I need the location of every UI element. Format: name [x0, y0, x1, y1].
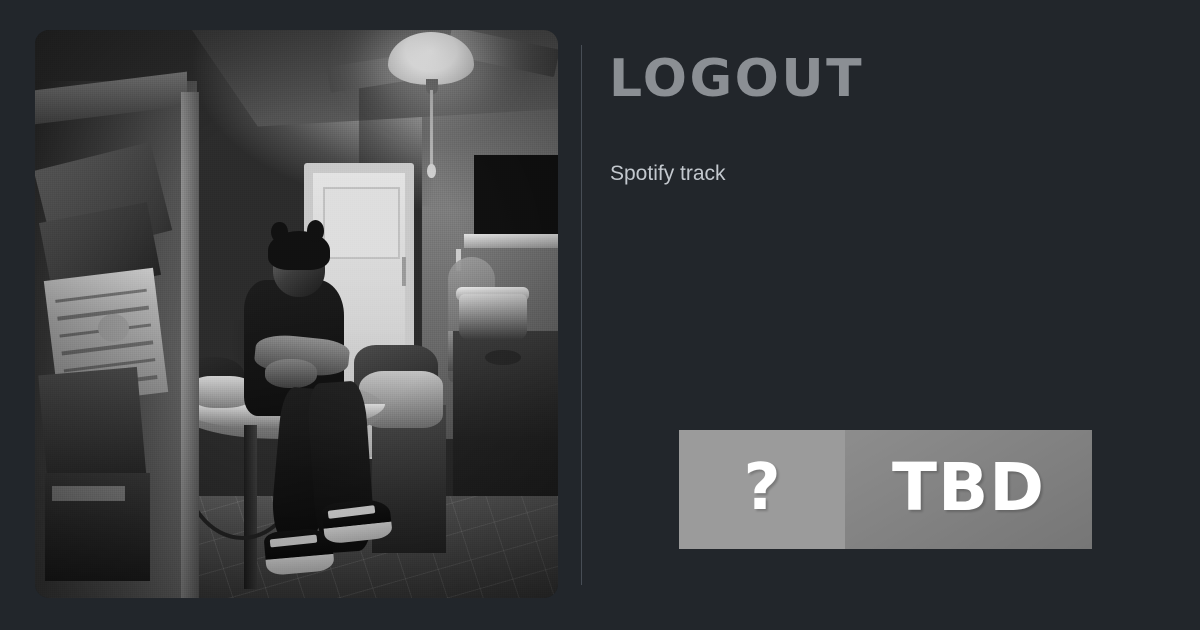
- question-mark-icon: ?: [743, 456, 780, 520]
- track-meta: LOGOUT Spotify track ? TBD: [609, 30, 1169, 598]
- tbd-badge-label: TBD: [892, 455, 1045, 521]
- tbd-badge-label-panel: TBD: [845, 430, 1092, 549]
- vertical-divider: [581, 45, 582, 585]
- tbd-badge[interactable]: ? TBD: [679, 430, 1092, 549]
- track-preview-card: LOGOUT Spotify track ? TBD: [0, 0, 1200, 630]
- album-artwork-image: [35, 30, 558, 598]
- vignette-overlay: [35, 30, 558, 598]
- track-subtitle: Spotify track: [610, 163, 726, 184]
- tbd-badge-icon-panel: ?: [679, 430, 845, 549]
- album-artwork[interactable]: [35, 30, 558, 598]
- page-title: LOGOUT: [609, 53, 864, 105]
